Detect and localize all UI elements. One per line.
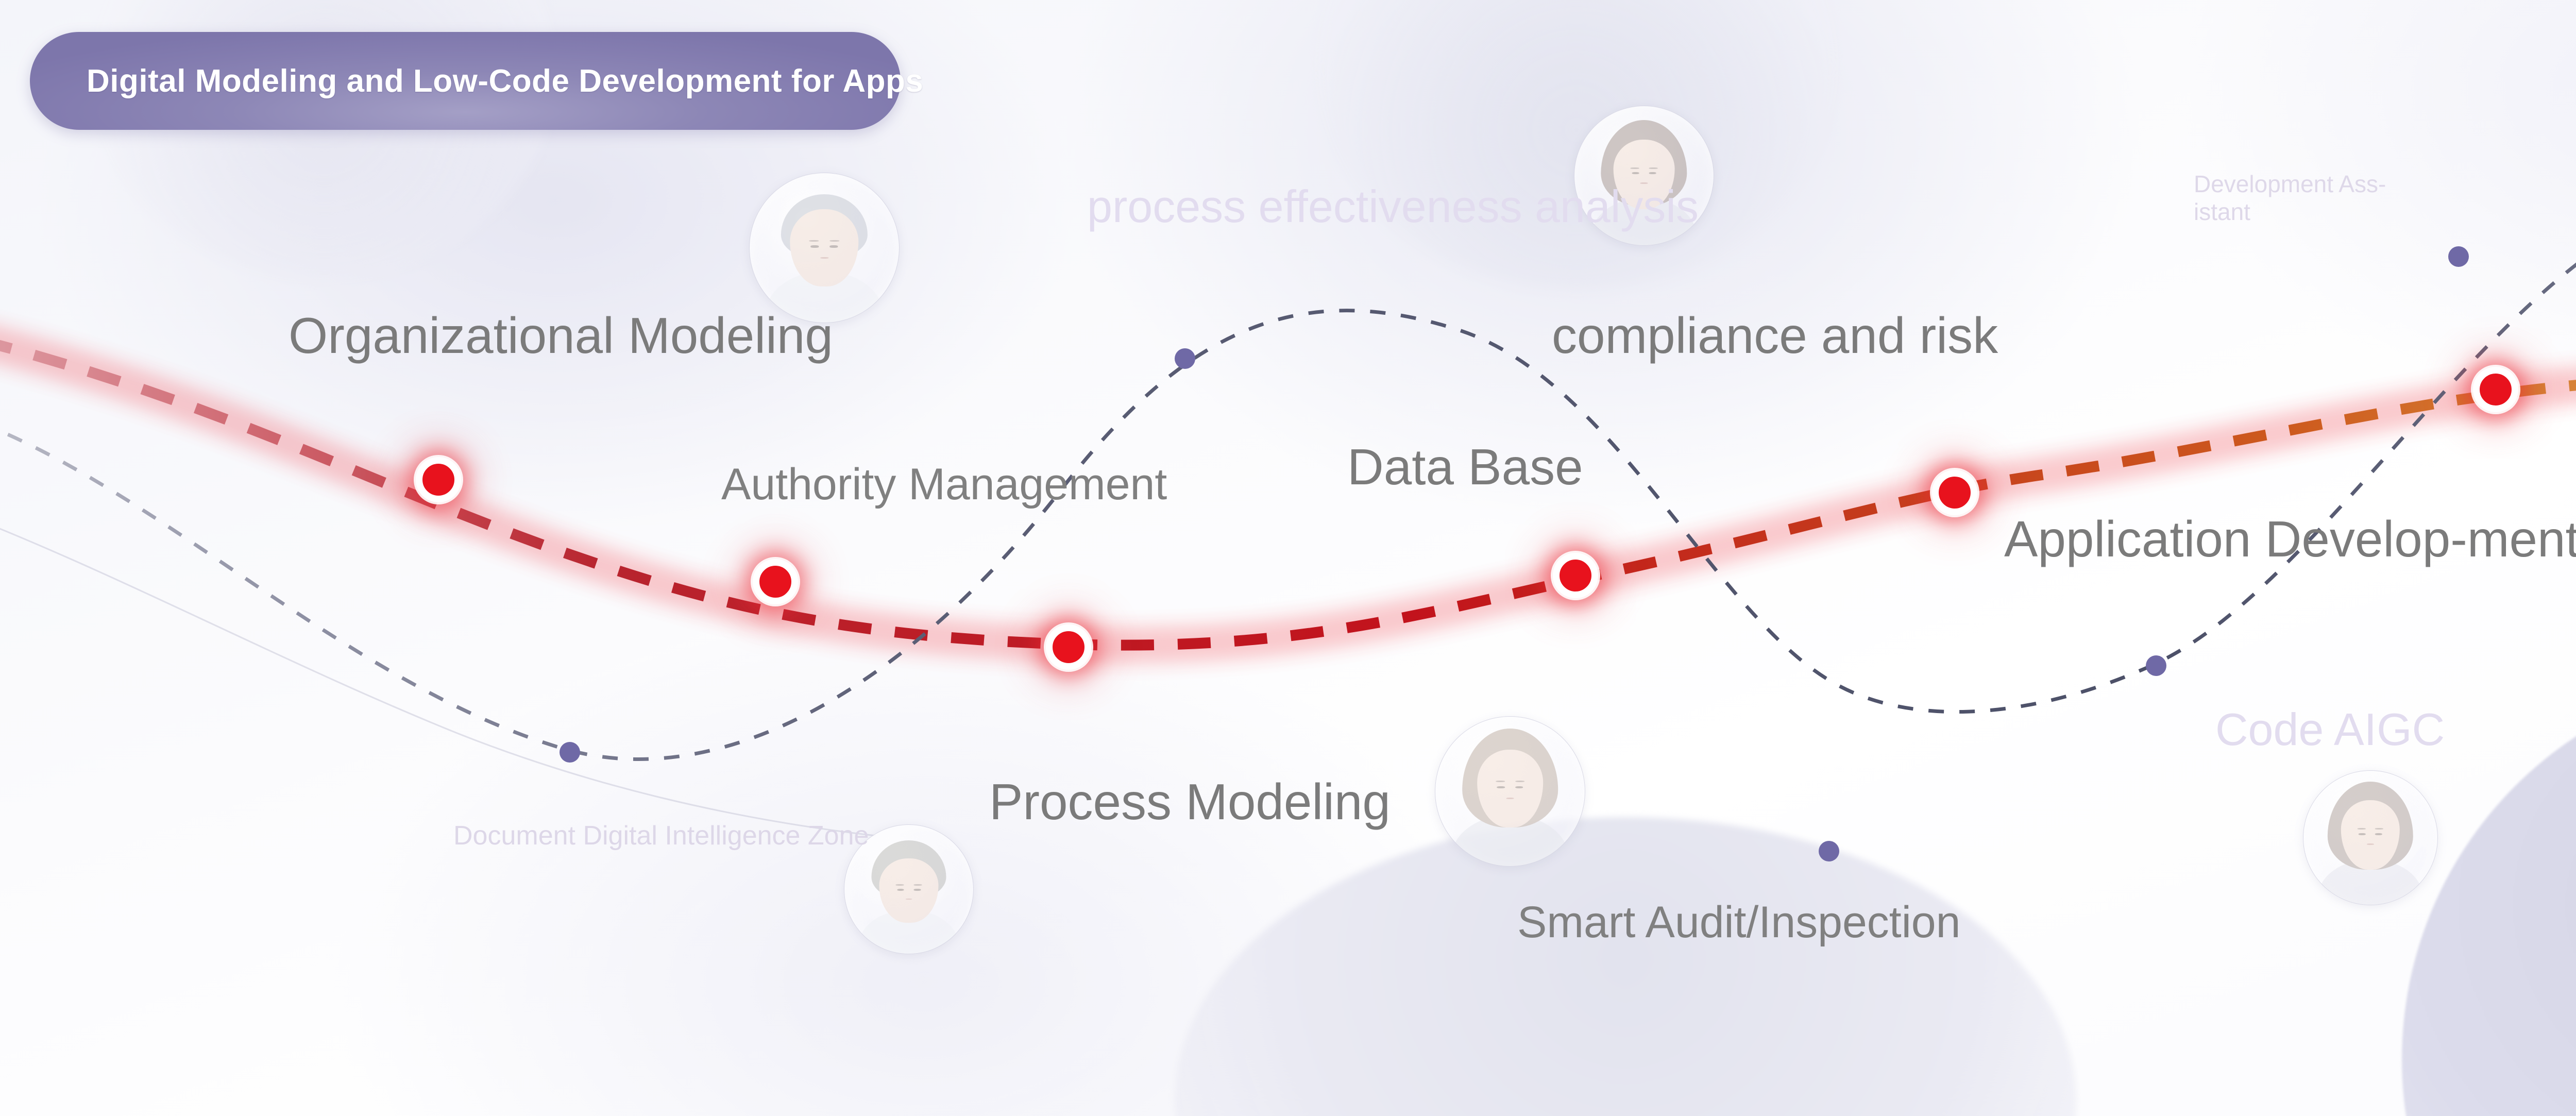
avatar-bubble-female-3 — [1435, 716, 1585, 867]
label-smart-audit-inspection: Smart Audit/Inspection — [1517, 899, 1960, 945]
infographic-canvas: process effectiveness analysis Developme… — [0, 0, 2576, 1116]
label-process-modeling: Process Modeling — [989, 775, 1391, 828]
page-title: Digital Modeling and Low-Code Developmen… — [30, 63, 923, 99]
label-organizational-modeling: Organizational Modeling — [289, 309, 833, 362]
milestone-node-compliance-and-risk[interactable] — [1932, 470, 1977, 515]
secondary-node-code-aigc[interactable] — [2146, 655, 2166, 676]
label-development-assistant-text: Development Ass-istant — [2194, 171, 2386, 225]
avatar-bubble-female-4 — [2303, 770, 2438, 905]
page-title-pill: Digital Modeling and Low-Code Developmen… — [30, 32, 901, 130]
label-data-base: Data Base — [1347, 441, 1583, 494]
secondary-node-document-zone[interactable] — [560, 742, 580, 763]
secondary-node-smart-audit[interactable] — [1819, 841, 1839, 861]
faint-accent-line — [0, 520, 876, 836]
milestone-node-authority-management[interactable] — [753, 559, 798, 604]
label-document-digital-intelligence-zone: Document Digital Intelligence Zone — [453, 822, 869, 850]
label-application-development: Application Develop-ment — [2004, 513, 2576, 566]
secondary-node-process-effectiveness[interactable] — [1175, 348, 1195, 369]
label-process-effectiveness-analysis: process effectiveness analysis — [1087, 183, 1699, 230]
label-code-aigc: Code AIGC — [2215, 706, 2445, 753]
milestone-node-organizational-modeling[interactable] — [416, 457, 461, 502]
label-compliance-and-risk: compliance and risk — [1552, 309, 1998, 362]
milestone-node-process-modeling[interactable] — [1046, 624, 1091, 670]
red-curve-glow — [0, 340, 2576, 645]
secondary-node-development-assistant[interactable] — [2448, 246, 2469, 267]
label-authority-management: Authority Management — [721, 461, 1167, 508]
avatar-bubble-male-1 — [749, 173, 900, 323]
label-development-assistant: Development Ass-istant — [2194, 170, 2415, 226]
milestone-node-application-development[interactable] — [2473, 367, 2518, 412]
milestone-node-data-base[interactable] — [1553, 553, 1598, 598]
